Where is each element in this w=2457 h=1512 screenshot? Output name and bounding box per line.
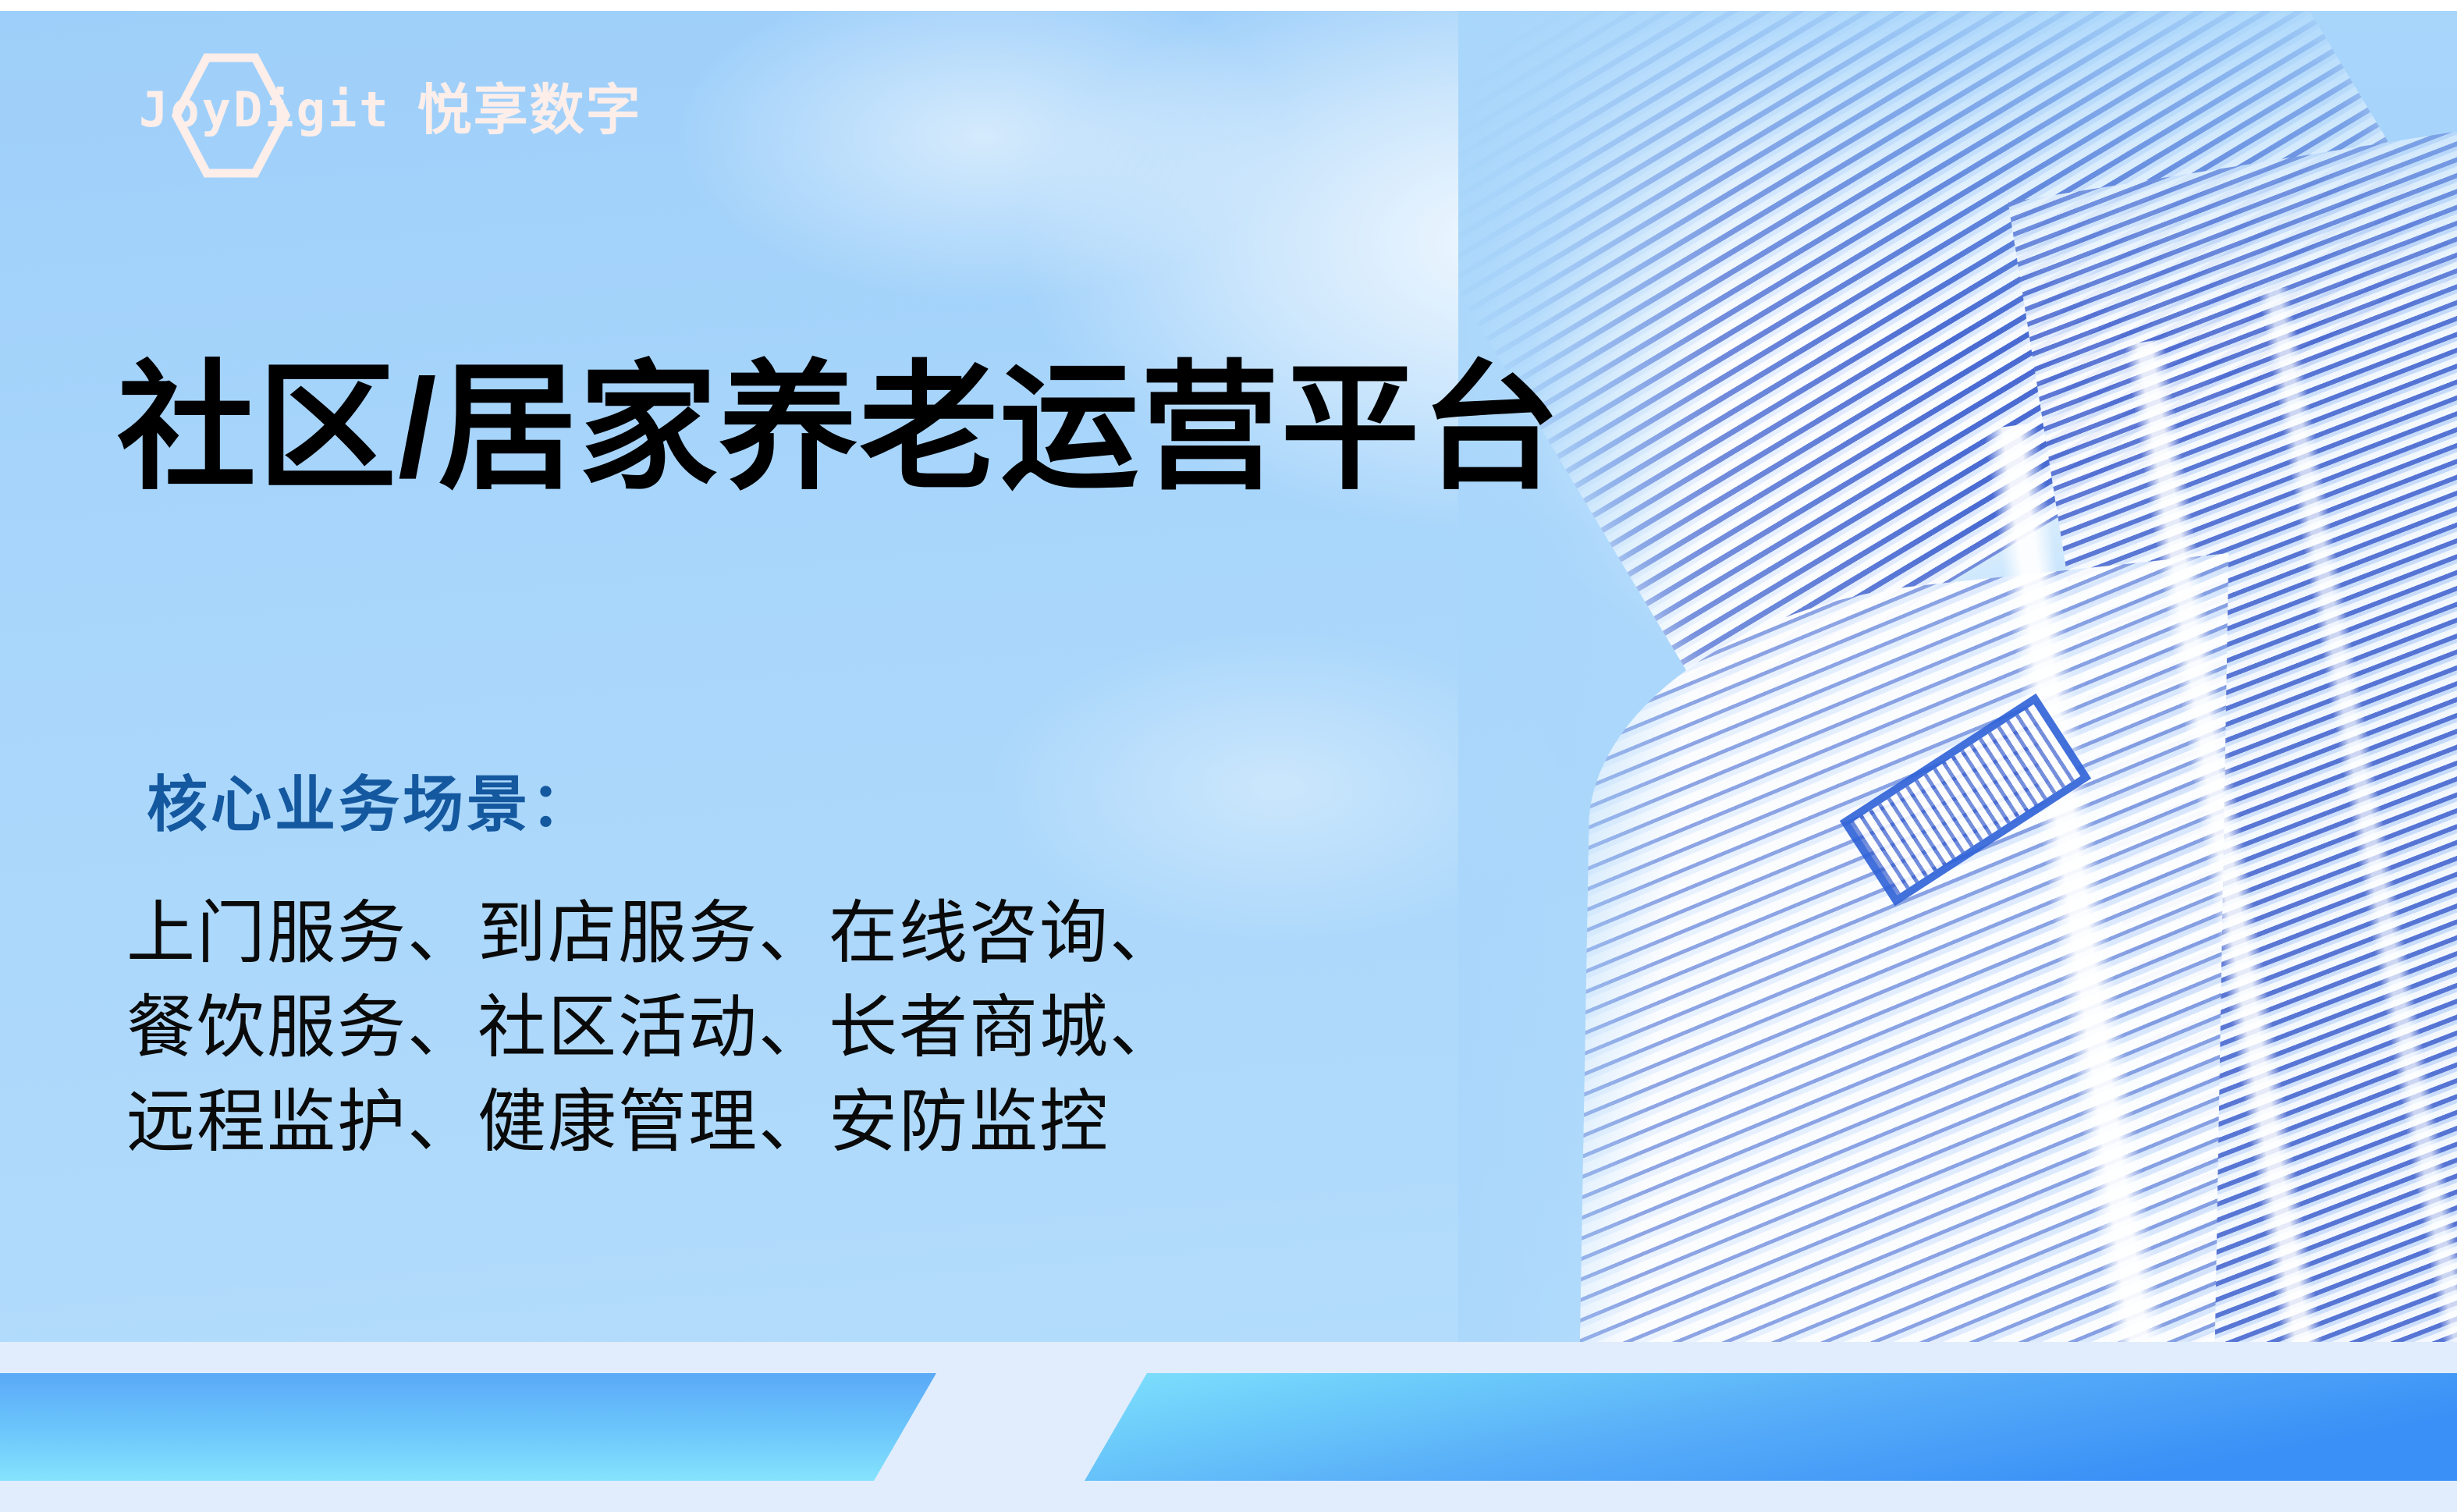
content-block: 核心业务场景： 上门服务、到店服务、在线咨询、 餐饮服务、社区活动、长者商城、 … [147,768,1180,1169]
bottom-decorative-band [0,1342,2457,1512]
photo-top-fade [1458,0,2457,335]
band-shape-left [0,1373,936,1481]
slide-root: JoyDigit 悦享数字 社区/居家养老运营平台 核心业务场景： 上门服务、到… [0,0,2457,1512]
band-shape-right [1085,1373,2457,1481]
scenario-line-2: 餐饮服务、社区活动、长者商城、 [126,980,1180,1074]
skyscraper-photo [1458,0,2457,1397]
brand-logo[interactable]: JoyDigit 悦享数字 [139,67,642,153]
scenario-line-3: 远程监护、健康管理、安防监控 [126,1074,1180,1169]
logo-wordmark-chinese: 悦享数字 [417,83,642,137]
page-title: 社区/居家养老运营平台 [117,350,1561,506]
scenario-line-1: 上门服务、到店服务、在线咨询、 [126,886,1180,980]
top-white-strip [0,0,2457,11]
logo-wordmark: JoyDigit [139,86,391,134]
section-subheading: 核心业务场景： [147,768,1180,842]
